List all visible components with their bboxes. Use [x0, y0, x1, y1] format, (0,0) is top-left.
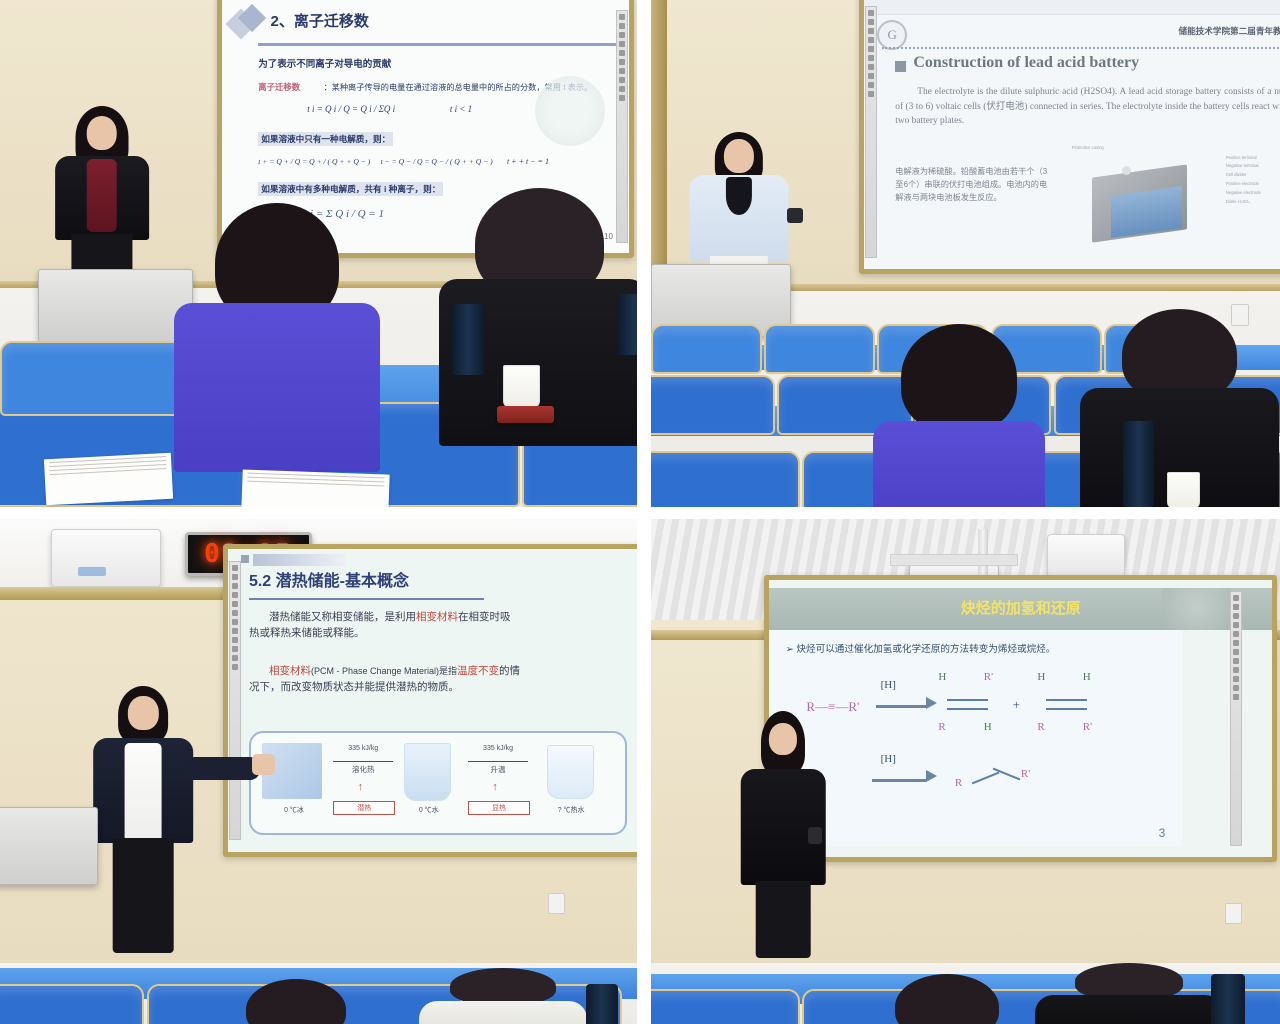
- attendee-5: [242, 979, 350, 1024]
- presentation-clicker-4[interactable]: [808, 827, 822, 844]
- hot-water-glass-image: [547, 745, 594, 799]
- slide-latent-heat: 5.2 潜热储能-基本概念 潜热储能又称相变储能，是利用相变材料在相变时吸 热或…: [228, 549, 637, 852]
- slide-content-area: ➢ 炔烃可以通过催化加氢或化学还原的方法转变为烯烃或烷烃。 R—≡—R' [H]…: [769, 630, 1182, 847]
- p2-right: R': [1021, 768, 1030, 780]
- double-bond-1a: [947, 699, 988, 701]
- photo-collage: 2、离子迁移数 为了表示不同离子对导电的贡献 离子迁移数 ：某种离子传导的电量在…: [0, 0, 1280, 1024]
- p1a-bot-left: R: [938, 721, 945, 733]
- attendee-3-jacket: [873, 421, 1045, 507]
- red-notebook: [497, 406, 554, 423]
- slide-title-band: 炔烃的加氢和还原: [769, 588, 1272, 630]
- thermos-flask-3: [1123, 421, 1154, 507]
- slide-bullet-4: ➢ 炔烃可以通过催化加氢或化学还原的方法转变为烯烃或烷烃。: [786, 643, 1157, 657]
- tag-1-latent: 潜热: [333, 801, 395, 815]
- value-1-label: 335 kJ/kg: [330, 745, 397, 752]
- board-toolbar-2[interactable]: [865, 6, 877, 258]
- college-logo: G: [877, 20, 907, 50]
- formula-2a: t + = Q + / Q = Q + / ( Q + + Q − ): [258, 157, 370, 166]
- attendee-purple-jacket: [191, 203, 363, 467]
- water-glass-image: [404, 743, 451, 801]
- reaction-arrow-1-head: [926, 697, 937, 709]
- seat-r1-1[interactable]: [651, 451, 800, 507]
- p1a-top-left: H: [938, 671, 946, 683]
- projection-screen-2: G 储能技术学院第二届青年教师教学 Construction of lead a…: [864, 0, 1280, 269]
- thermos-flask-1: [452, 304, 484, 375]
- board-toolbar-4[interactable]: [1230, 591, 1242, 847]
- slide-title-2: Construction of lead acid battery: [913, 54, 1139, 72]
- slide-title-num: 5.2 潜热储能: [249, 573, 340, 590]
- para-2b: (PCM - Phase Change Material)是指: [311, 666, 457, 676]
- slide-chinese-note: 电解液为稀硫酸。铅酸蓄电池由若干个（3至6个）串联的伏打电池组成。电池内的电解液…: [895, 165, 1049, 204]
- attendee-3-hair: [901, 324, 1017, 432]
- value-2-label: 335 kJ/kg: [464, 745, 531, 752]
- wall-socket-3: [548, 893, 565, 914]
- thermos-flask-4: [586, 984, 618, 1024]
- attendee-5-hair: [246, 979, 346, 1024]
- formula-2b: t − = Q − / Q = Q − / ( Q + + Q − ): [381, 157, 493, 166]
- attendee-7-hair: [895, 974, 999, 1024]
- para-1d: 热或释热来储能或释能。: [249, 627, 365, 639]
- wall-socket-4: [1225, 903, 1242, 924]
- presenter-4-head: [769, 723, 797, 755]
- process-1-label: 溶化热: [330, 764, 397, 775]
- presenter-1: [51, 106, 153, 289]
- battery-label-casing: Protective casing: [1072, 145, 1104, 150]
- seat-3-1[interactable]: [0, 984, 144, 1024]
- para-1c: 在相变时吸: [458, 611, 511, 623]
- projection-screen-4: 炔烃的加氢和还原 ➢ 炔烃可以通过催化加氢或化学还原的方法转变为烯烃或烷烃。 R…: [769, 580, 1272, 858]
- presenter-3-hand: [252, 754, 276, 775]
- condition-1: t i < 1: [450, 104, 472, 114]
- case-2-text: 如果溶液中有多种电解质，共有 i 种离子，则：: [258, 182, 443, 196]
- reagent-2: [H]: [881, 753, 896, 765]
- attendee-1-jacket: [174, 303, 380, 472]
- air-purifier-unit: [51, 529, 161, 587]
- slide-lead-acid-battery: G 储能技术学院第二届青年教师教学 Construction of lead a…: [864, 0, 1280, 269]
- slide-title: 2、离子迁移数: [270, 10, 368, 31]
- para-1a: 潜热储能又称相变储能，是利用: [269, 611, 416, 623]
- slide-paragraph: The electrolyte is the dilute sulphuric …: [895, 85, 1280, 129]
- title-underline-3: [249, 598, 484, 600]
- double-bond-1b-2: [1046, 708, 1087, 710]
- whiteboard-3: 5.2 潜热储能-基本概念 潜热储能又称相变储能，是利用相变材料在相变时吸 热或…: [223, 544, 637, 857]
- projector-ceiling-plate: [890, 554, 1018, 566]
- slide-title-sub: -基本概念: [340, 573, 409, 590]
- seat-4-1[interactable]: [651, 989, 800, 1024]
- slide-alkyne-hydrogenation: 炔烃的加氢和还原 ➢ 炔烃可以通过催化加氢或化学还原的方法转变为烯烃或烷烃。 R…: [769, 580, 1272, 858]
- title-band-image: [1162, 588, 1232, 630]
- chain-bond-1: [972, 772, 1000, 785]
- classroom-3: 09:05 5.2 潜热储能-基本概念 潜热储能又称相变储能，是利用相变材料在相…: [0, 519, 637, 1024]
- presenter-2-bowtie: [726, 177, 752, 215]
- arrow-up-1: ↑: [358, 781, 364, 793]
- podium-3: [0, 807, 98, 885]
- presenter-4: [739, 711, 827, 953]
- board-toolbar-3[interactable]: [229, 561, 241, 840]
- seat-r3-1[interactable]: [651, 324, 762, 374]
- para-2c: 温度不变: [457, 665, 499, 677]
- attendee-8-jacket: [1035, 995, 1222, 1024]
- attendee-6: [433, 968, 573, 1024]
- ceiling-speaker-4: [1047, 534, 1124, 576]
- podium-1: [38, 269, 193, 342]
- double-bond-1a-2: [947, 708, 988, 710]
- slide-title-3: 5.2 潜热储能-基本概念: [249, 567, 409, 591]
- reaction-arrow-2-head: [926, 770, 937, 782]
- panel-2-lead-acid-battery-lecture: G 储能技术学院第二届青年教师教学 Construction of lead a…: [651, 0, 1280, 507]
- arrow-up-2: ↑: [492, 781, 498, 793]
- case-1-text: 如果溶液中只有一种电解质，则：: [258, 132, 393, 146]
- p1b-bot-left: R: [1037, 721, 1044, 733]
- slide-decor-bar: [253, 554, 345, 566]
- presenter-1-shirt: [87, 159, 118, 232]
- panel-1-electrochemistry-lecture: 2、离子迁移数 为了表示不同离子对导电的贡献 离子迁移数 ：某种离子传导的电量在…: [0, 0, 637, 507]
- slide-watermark: [535, 76, 605, 146]
- presenter-2-head: [724, 139, 754, 173]
- seat-r3-2[interactable]: [764, 324, 875, 374]
- slide-header: 储能技术学院第二届青年教师教学: [1178, 25, 1280, 37]
- presenter-3-arm-extended: [184, 757, 260, 781]
- reaction-arrow-2: [872, 779, 926, 782]
- presentation-clicker-2[interactable]: [787, 208, 803, 224]
- battery-diagram-labels: Positive terminalNegative terminalCell d…: [1226, 154, 1280, 207]
- slide-page-number-4: 3: [1159, 826, 1166, 840]
- seat-r2-1[interactable]: [651, 375, 775, 435]
- evaluation-sheet-2: [241, 469, 389, 507]
- attendee-8: [1054, 963, 1205, 1024]
- thermos-flask-5: [1211, 974, 1246, 1024]
- process-2-label: 升温: [464, 764, 531, 775]
- title-rule: [258, 43, 617, 46]
- header-divider: [882, 47, 1280, 49]
- attendee-7: [890, 974, 1003, 1024]
- attendee-6-shirt: [419, 1001, 587, 1024]
- reagent-1: [H]: [881, 679, 896, 691]
- formula-2c: t + + t − = 1: [507, 157, 549, 166]
- slide-decor-sq: [241, 555, 249, 563]
- para-1b: 相变材料: [416, 611, 458, 623]
- classroom-2: G 储能技术学院第二届青年教师教学 Construction of lead a…: [651, 0, 1280, 507]
- stage-3-label: ? ℃热水: [535, 805, 606, 815]
- whiteboard-2: G 储能技术学院第二届青年教师教学 Construction of lead a…: [859, 0, 1280, 274]
- value-1-rule: [333, 761, 393, 762]
- para-2d: 的情: [499, 665, 520, 677]
- battery-diagram: [1081, 159, 1217, 247]
- reaction-arrow-1: [876, 705, 926, 708]
- panel-3-latent-heat-lecture: 09:05 5.2 潜热储能-基本概念 潜热储能又称相变储能，是利用相变材料在相…: [0, 519, 637, 1024]
- p2-left: R: [955, 777, 962, 789]
- p1b-top-left: H: [1037, 671, 1045, 683]
- attendee-6-hair: [450, 968, 556, 1005]
- p1a-top-right: R': [984, 671, 993, 683]
- formula-1: t i = Q i / Q = Q i / ΣQ i: [307, 104, 395, 114]
- whiteboard-4: 炔烃的加氢和还原 ➢ 炔烃可以通过催化加氢或化学还原的方法转变为烯烃或烷烃。 R…: [764, 575, 1277, 863]
- p1b-bot-right: R': [1083, 721, 1092, 733]
- paper-cup-2: [1167, 472, 1200, 508]
- presenter-1-head: [87, 116, 118, 150]
- projection-screen-3: 5.2 潜热储能-基本概念 潜热储能又称相变储能，是利用相变材料在相变时吸 热或…: [228, 549, 637, 852]
- p1a-bot-right: H: [984, 721, 992, 733]
- definition-label: 离子迁移数: [258, 81, 300, 93]
- latent-heat-diagram: 0 ℃冰 335 kJ/kg 溶化热 ↑ 潜热 0 ℃水 335 kJ/kg 升…: [249, 731, 627, 835]
- presenter-3-trousers: [113, 838, 174, 954]
- para-2e: 况下，而改变物质状态并能提供潜热的物质。: [249, 681, 459, 693]
- slide-para-1: 潜热储能又称相变储能，是利用相变材料在相变时吸 热或释热来储能或释能。: [249, 610, 632, 642]
- ppt-toolbar[interactable]: [864, 0, 1280, 15]
- board-left-frame: [651, 0, 667, 294]
- tag-2-sensible: 显热: [468, 801, 530, 815]
- attendee-4-hair: [1122, 309, 1237, 400]
- slide-lead-text: 为了表示不同离子对导电的贡献: [258, 56, 391, 70]
- thermos-flask-2: [618, 294, 637, 355]
- slide-para-2: 相变材料(PCM - Phase Change Material)是指温度不变的…: [249, 664, 632, 696]
- stage-1-label: 0 ℃冰: [258, 805, 329, 815]
- p1b-top-right: H: [1083, 671, 1091, 683]
- paper-cup-1: [503, 365, 540, 408]
- attendee-purple-2: [890, 324, 1028, 507]
- stage-2-label: 0 ℃水: [397, 805, 461, 815]
- presenter-3-head: [128, 696, 158, 730]
- value-2-rule: [468, 761, 528, 762]
- classroom-4: 09:19 炔烃的加氢和还原 ➢ 炔烃可以通过催化加氢或化学还原的方法转变为烯烃…: [651, 519, 1280, 1024]
- panel-4-alkyne-chemistry-lecture: 09:19 炔烃的加氢和还原 ➢ 炔烃可以通过催化加氢或化学还原的方法转变为烯烃…: [651, 519, 1280, 1024]
- double-bond-1b: [1046, 699, 1087, 701]
- classroom-1: 2、离子迁移数 为了表示不同离子对导电的贡献 离子迁移数 ：某种离子传导的电量在…: [0, 0, 637, 507]
- plus-sign: +: [1013, 697, 1020, 713]
- evaluation-sheet-1: [43, 453, 173, 505]
- bullet-square: [895, 61, 906, 72]
- presenter-3: [89, 686, 197, 949]
- presenter-4-trousers: [756, 881, 811, 959]
- para-2a: 相变材料: [269, 665, 311, 677]
